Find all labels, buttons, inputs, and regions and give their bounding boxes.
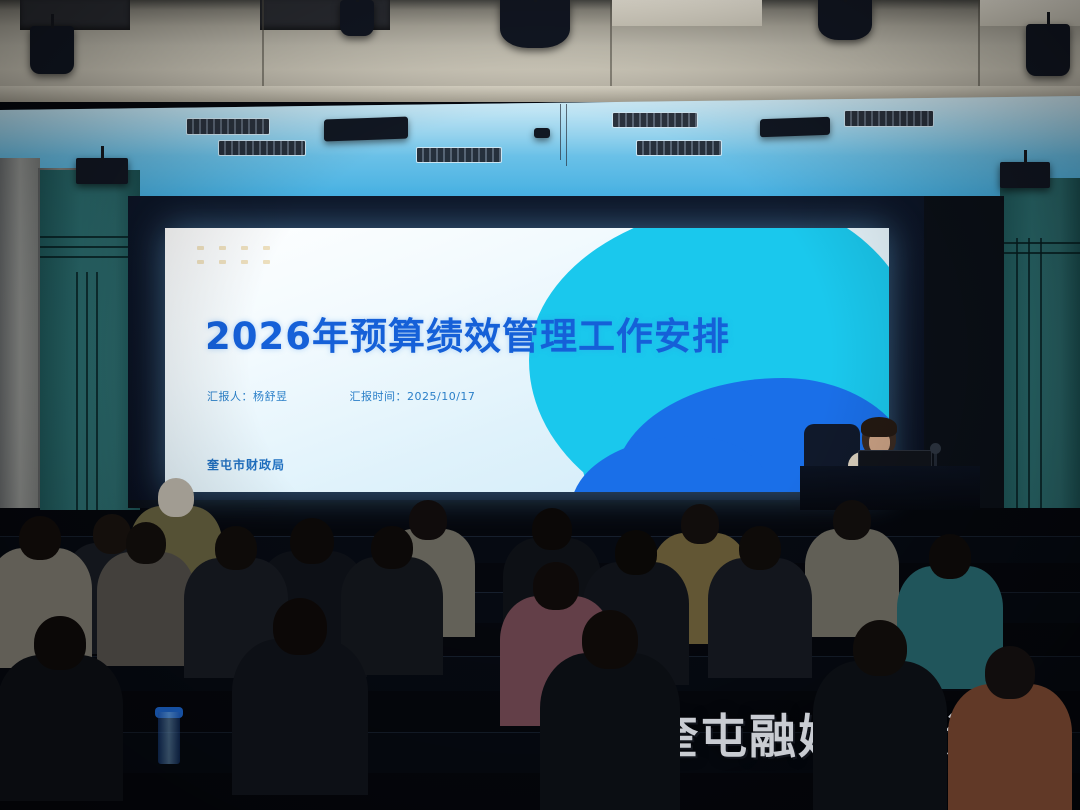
wall-groove [40, 236, 140, 238]
ceiling-seam [262, 0, 264, 100]
audience-person-head [853, 620, 907, 676]
audience-person-body [948, 684, 1073, 810]
audience-person-body [708, 558, 812, 678]
audience-person-body [540, 653, 680, 810]
wall-groove [40, 256, 140, 258]
air-vent [218, 140, 306, 156]
water-cup [158, 712, 180, 764]
audience-person-head [833, 500, 871, 540]
wall-panel-teal [40, 170, 140, 510]
audience-person-head [615, 530, 658, 575]
wall-spotlight-icon [76, 158, 128, 184]
slide-title: 2026年预算绩效管理工作安排 [205, 306, 730, 360]
ceiling-speaker-icon [30, 26, 74, 74]
audience-person [948, 646, 1073, 810]
audience-person-head [582, 610, 639, 669]
audience-person-head [273, 598, 328, 655]
wall-groove [1016, 238, 1018, 508]
audience-person-head [739, 526, 781, 570]
audience-person-head [215, 526, 257, 570]
ceiling-speaker-icon [1026, 24, 1070, 76]
presentation-screen: 2026年预算绩效管理工作安排 汇报人：杨舒昱 汇报时间：2025/10/17 … [165, 228, 889, 492]
audience-person-body [232, 639, 367, 795]
ceiling-speaker-icon [818, 0, 872, 40]
audience-person [813, 620, 946, 810]
wall-groove [1040, 238, 1042, 508]
audience-person-head [985, 646, 1035, 699]
ceiling-wire [560, 104, 561, 160]
ceiling-light-panel [980, 0, 1080, 26]
air-vent [844, 110, 934, 127]
ceiling-speaker-icon [500, 0, 570, 48]
ceiling-projector [760, 117, 830, 137]
audience-person-head [126, 522, 166, 564]
air-vent [416, 147, 502, 163]
wall-panel-grey [0, 158, 40, 508]
air-vent [186, 118, 270, 135]
audience-person-head [533, 562, 578, 610]
audience-person-head [34, 616, 85, 670]
air-vent [636, 140, 722, 156]
slide-decorative-dots [197, 246, 285, 274]
ceiling-light-panel [612, 0, 762, 26]
wall-spotlight-icon [1000, 162, 1050, 188]
audience-person [540, 610, 680, 810]
audience-person-body [0, 655, 123, 801]
slide-meta: 汇报人：杨舒昱 汇报时间：2025/10/17 [207, 388, 475, 404]
wall-groove [1000, 242, 1080, 244]
slide-datetime-label: 汇报时间：2025/10/17 [350, 388, 476, 404]
wall-groove [1000, 252, 1080, 254]
ceiling-sensor [534, 128, 550, 138]
wall-groove [1028, 238, 1030, 508]
presenter-hair [861, 417, 897, 437]
audience-person-body [813, 661, 946, 810]
audience-person-head [532, 508, 572, 550]
audience-person-head [158, 478, 195, 517]
audience-person-head [19, 516, 61, 560]
ceiling-seam [610, 0, 612, 100]
wall-groove [40, 246, 140, 248]
audience-person [708, 526, 812, 690]
ceiling-seam [978, 0, 980, 100]
audience-person-head [371, 526, 412, 569]
photo-scene: 2026年预算绩效管理工作安排 汇报人：杨舒昱 汇报时间：2025/10/17 … [0, 0, 1080, 810]
audience-person [232, 598, 367, 810]
audience-person-head [929, 534, 972, 579]
audience-person [0, 616, 123, 810]
slide-presenter-label: 汇报人：杨舒昱 [207, 388, 288, 404]
ceiling-projector [324, 117, 408, 142]
ceiling-wire [566, 104, 567, 166]
ceiling-speaker-icon [340, 0, 374, 36]
air-vent [612, 112, 698, 128]
audience-person-head [290, 518, 334, 564]
